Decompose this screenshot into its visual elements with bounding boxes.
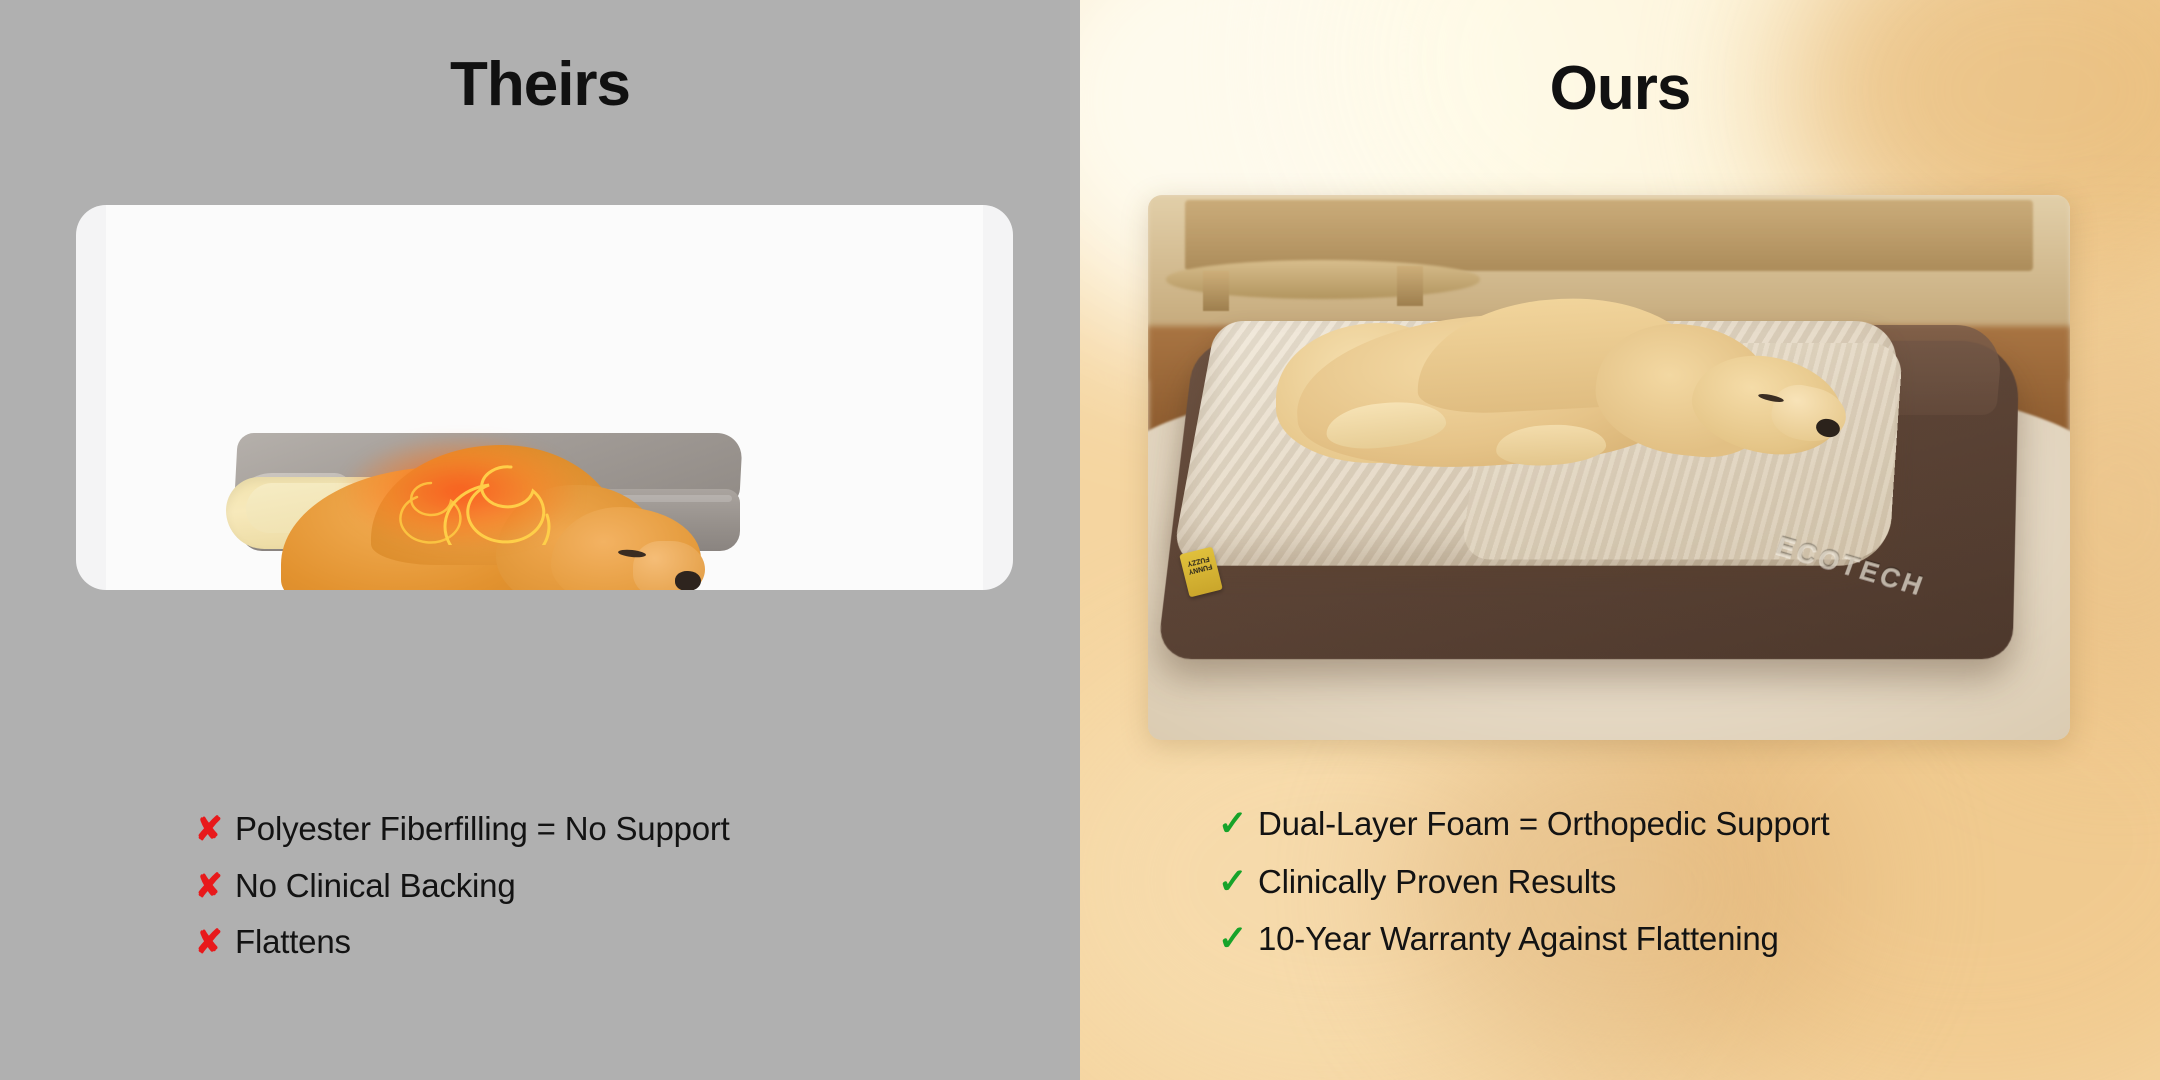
list-item-label: Flattens xyxy=(235,925,351,960)
ours-product-photo: ECOTECH FUNNY FUZZY xyxy=(1148,195,2070,740)
comparison-graphic: Theirs xyxy=(0,0,2160,1080)
check-icon: ✓ xyxy=(1218,806,1258,841)
list-item-label: Polyester Fiberfilling = No Support xyxy=(235,812,730,847)
check-icon: ✓ xyxy=(1218,864,1258,899)
sleeping-dog-ours xyxy=(1296,275,1856,525)
sleeping-dog-theirs xyxy=(281,445,701,590)
list-item-label: Dual-Layer Foam = Orthopedic Support xyxy=(1258,807,1830,842)
cross-icon: ✘ xyxy=(195,925,235,958)
furniture-leg xyxy=(1203,271,1229,311)
cross-icon: ✘ xyxy=(195,812,235,845)
theirs-feature-list: ✘ Polyester Fiberfilling = No Support ✘ … xyxy=(195,812,730,982)
check-icon: ✓ xyxy=(1218,921,1258,956)
list-item-label: 10-Year Warranty Against Flattening xyxy=(1258,922,1779,957)
list-item: ✘ Flattens xyxy=(195,925,730,960)
cross-icon: ✘ xyxy=(195,869,235,902)
list-item: ✓ 10-Year Warranty Against Flattening xyxy=(1218,921,1830,957)
brand-tag-label: FUNNY FUZZY xyxy=(1183,553,1216,576)
panel-ours-title: Ours xyxy=(1080,58,2160,120)
ours-feature-list: ✓ Dual-Layer Foam = Orthopedic Support ✓… xyxy=(1218,806,1830,979)
orthopedic-dog-bed: ECOTECH FUNNY FUZZY xyxy=(1176,315,2036,715)
dog-nose xyxy=(675,571,701,590)
list-item: ✓ Clinically Proven Results xyxy=(1218,864,1830,900)
list-item-label: No Clinical Backing xyxy=(235,869,516,904)
list-item: ✘ No Clinical Backing xyxy=(195,869,730,904)
list-item: ✓ Dual-Layer Foam = Orthopedic Support xyxy=(1218,806,1830,842)
list-item-label: Clinically Proven Results xyxy=(1258,865,1616,900)
list-item: ✘ Polyester Fiberfilling = No Support xyxy=(195,812,730,847)
panel-theirs: Theirs xyxy=(0,0,1080,1080)
theirs-photo-canvas xyxy=(106,205,983,590)
panel-theirs-title: Theirs xyxy=(0,54,1080,116)
theirs-product-photo xyxy=(76,205,1013,590)
